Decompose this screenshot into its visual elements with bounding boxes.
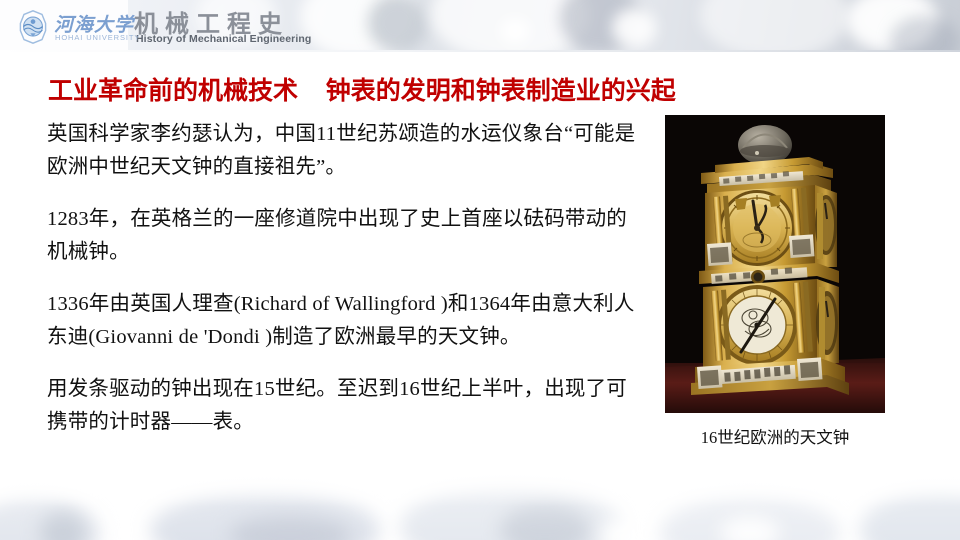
header-watermark-blob: [368, 0, 426, 52]
header-watermark-blob: [612, 8, 656, 48]
paragraph: 用发条驱动的钟出现在15世纪。至迟到16世纪上半叶，出现了可携带的计时器——表。: [47, 373, 647, 439]
hohai-university-emblem-icon: [15, 9, 51, 45]
slide-body-text: 英国科学家李约瑟认为，中国11世纪苏颂造的水运仪象台“可能是欧洲中世纪天文钟的直…: [47, 118, 647, 439]
header-watermark-blob: [700, 0, 850, 52]
course-title-english: History of Mechanical Engineering: [136, 33, 311, 45]
footer-watermark: [0, 470, 960, 540]
university-name-english: HOHAI UNIVERSITY: [55, 33, 140, 42]
slide-header-band: 机械工程史 History of Mechanical Engineering …: [0, 0, 960, 52]
page-title: 工业革命前的机械技术 钟表的发明和钟表制造业的兴起: [48, 76, 878, 106]
paragraph: 1336年由英国人理查(Richard of Wallingford )和136…: [47, 288, 647, 354]
university-logo: 河海大学 HOHAI UNIVERSITY: [0, 0, 128, 52]
paragraph: 英国科学家李约瑟认为，中国11世纪苏颂造的水运仪象台“可能是欧洲中世纪天文钟的直…: [47, 118, 647, 184]
gilded-astronomical-clock-photo: [665, 115, 885, 413]
paragraph: 1283年，在英格兰的一座修道院中出现了史上首座以砝码带动的机械钟。: [47, 203, 647, 269]
figure-caption: 16世纪欧洲的天文钟: [665, 424, 885, 448]
footer-fade-overlay: [0, 470, 960, 540]
header-divider: [0, 50, 960, 52]
header-watermark-blob: [500, 18, 530, 44]
clock-photo-illustration: [665, 115, 885, 413]
